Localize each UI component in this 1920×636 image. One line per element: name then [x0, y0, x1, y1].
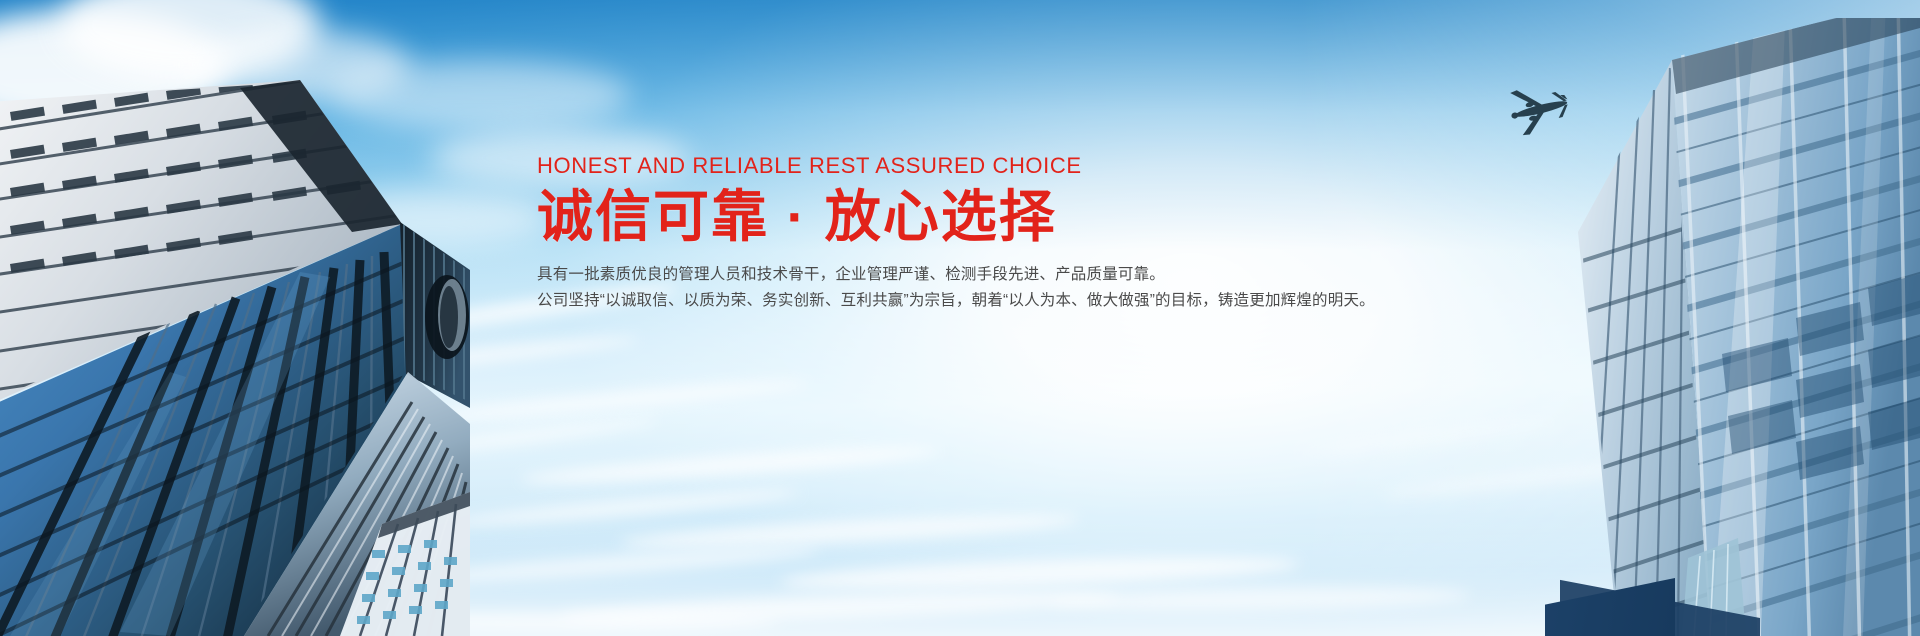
description-line: 公司坚持“以诚取信、以质为荣、务实创新、互利共赢”为宗旨，朝着“以人为本、做大做…: [537, 288, 1367, 314]
left-building-image: [0, 72, 470, 636]
banner-description: 具有一批素质优良的管理人员和技术骨干，企业管理严谨、检测手段先进、产品质量可靠。…: [537, 262, 1367, 314]
description-line: 具有一批素质优良的管理人员和技术骨干，企业管理严谨、检测手段先进、产品质量可靠。: [537, 262, 1367, 288]
banner-headline: 诚信可靠 · 放心选择: [537, 184, 1367, 250]
right-building-image: [1560, 18, 1920, 636]
hero-banner: HONEST AND RELIABLE REST ASSURED CHOICE …: [0, 0, 1920, 636]
banner-copy: HONEST AND RELIABLE REST ASSURED CHOICE …: [537, 154, 1367, 314]
banner-eyebrow: HONEST AND RELIABLE REST ASSURED CHOICE: [537, 154, 1367, 178]
